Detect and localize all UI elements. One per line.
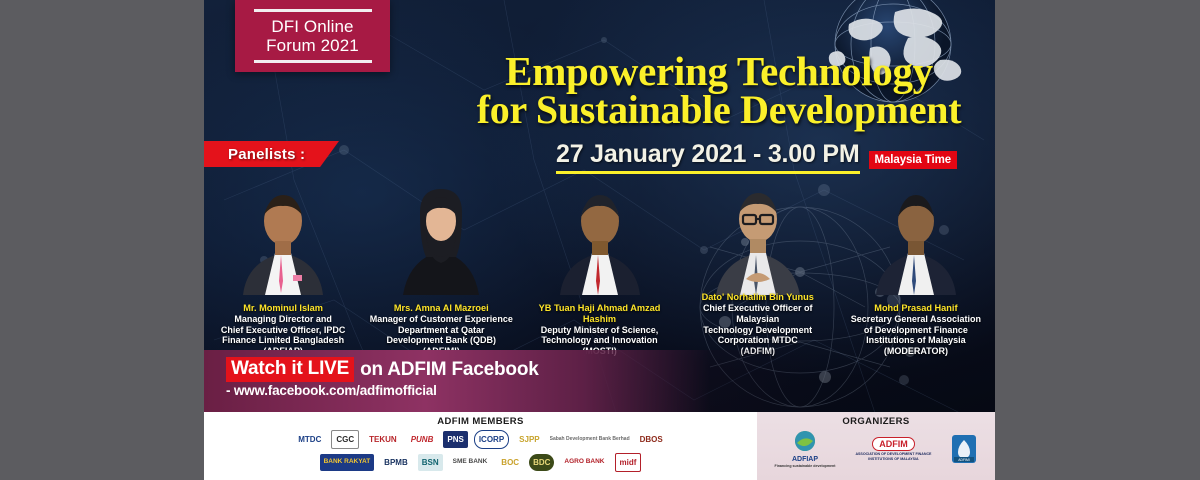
adfimi-logo-icon: ADFIMI (951, 434, 977, 464)
watch-live-band: Watch it LIVE on ADFIM Facebook - www.fa… (204, 350, 995, 412)
panelist-card: Mohd Prasad Hanif Secretary General Asso… (837, 172, 995, 357)
member-logo: Sabah Development Bank Berhad (550, 431, 630, 448)
member-logo: SME BANK (449, 454, 492, 471)
watch-live-highlight: Watch it LIVE (226, 357, 354, 382)
facebook-url[interactable]: - www.facebook.com/adfimofficial (226, 383, 437, 398)
organizer-adfimi: ADFIMI (951, 434, 977, 464)
organizer-logo-row: ADFIAP Financing sustainable development… (757, 427, 995, 471)
panelist-photo (868, 175, 964, 295)
panelist-photo (235, 175, 331, 295)
panelist-caption: Mohd Prasad Hanif Secretary General Asso… (839, 303, 993, 357)
panelist-title-line: of Development Finance (839, 325, 993, 336)
panelist-title-line: Chief Executive Officer of Malaysian (681, 303, 835, 325)
panelist-title-line: Manager of Customer Experience (364, 314, 518, 325)
panelist-card: Mrs. Amna Al Mazroei Manager of Customer… (362, 172, 520, 357)
panelist-photo (393, 175, 489, 295)
letterbox-right (995, 0, 1200, 480)
poster-stage: DFI Online Forum 2021 Empowering Technol… (0, 0, 1200, 480)
panelist-name: YB Tuan Haji Ahmad Amzad Hashim (522, 303, 676, 325)
panelist-title-line: Development Bank (QDB) (364, 335, 518, 346)
member-logo-row-1: MTDC CGC TEKUN PUNB PNS ICORP SJPP Sabah… (212, 428, 749, 451)
organizer-adfiap: ADFIAP Financing sustainable development (775, 430, 836, 468)
panelist-title-line: Chief Executive Officer, IPDC (206, 325, 360, 336)
panelist-title-line: Technology Development (681, 325, 835, 336)
panelist-title-line: Secretary General Association (839, 314, 993, 325)
panelist-title-line: Technology and Innovation (522, 335, 676, 346)
panelist-card: Dato' Norhalim Bin Yunus Chief Executive… (679, 172, 837, 357)
badge-text: DFI Online Forum 2021 (266, 12, 359, 60)
event-date-text: 27 January 2021 - 3.00 PM (556, 140, 860, 174)
panelist-title-line: Finance Limited Bangladesh (206, 335, 360, 346)
poster-headline: Empowering Technology for Sustainable De… (454, 52, 984, 130)
panelists-label: Panelists : (204, 146, 305, 163)
organizer-adfim: ADFIM ASSOCIATION OF DEVELOPMENT FINANCE… (845, 437, 941, 460)
event-datetime: 27 January 2021 - 3.00 PM Malaysia Time (556, 140, 984, 174)
panelist-photo (552, 175, 648, 295)
poster-footer: ADFIM MEMBERS MTDC CGC TEKUN PUNB PNS IC… (204, 412, 995, 480)
member-logo: TEKUN (365, 431, 401, 448)
organizer-name: ADFIAP (792, 456, 818, 464)
panelist-caption: YB Tuan Haji Ahmad Amzad Hashim Deputy M… (522, 303, 676, 357)
forum-badge: DFI Online Forum 2021 (235, 0, 390, 72)
panelist-title-line: Corporation MTDC (681, 335, 835, 346)
member-logo: BPMB (380, 454, 412, 471)
member-logo: PUNB (407, 431, 438, 448)
svg-text:ADFIMI: ADFIMI (959, 458, 971, 462)
member-logo: BSN (418, 454, 443, 471)
badge-line-1: DFI Online (266, 17, 359, 36)
adfim-members-section: ADFIM MEMBERS MTDC CGC TEKUN PUNB PNS IC… (204, 412, 757, 480)
panelist-name: Mr. Mominul Islam (206, 303, 360, 314)
panelist-photo (710, 175, 806, 295)
member-logo: MTDC (294, 431, 325, 448)
panelist-caption: Mr. Mominul Islam Managing Director and … (206, 303, 360, 357)
panelist-caption: Mrs. Amna Al Mazroei Manager of Customer… (364, 303, 518, 357)
panelist-title-line: Department at Qatar (364, 325, 518, 336)
panelist-card: YB Tuan Haji Ahmad Amzad Hashim Deputy M… (520, 172, 678, 357)
member-logo: ICORP (474, 430, 509, 449)
letterbox-left (0, 0, 204, 480)
member-logo: BOC (497, 454, 523, 471)
panelist-card: Mr. Mominul Islam Managing Director and … (204, 172, 362, 357)
member-logo-row-2: BANK RAKYAT BPMB BSN SME BANK BOC BDC AG… (212, 451, 749, 474)
organizer-name: ADFIM (872, 437, 915, 451)
panelists-ribbon: Panelists : (204, 141, 339, 167)
panelist-title-line: Deputy Minister of Science, (522, 325, 676, 336)
organizer-caption: Financing sustainable development (775, 464, 836, 468)
panelist-title-line: Institutions of Malaysia (839, 335, 993, 346)
adfiap-globe-icon (790, 430, 820, 456)
panelist-name: Dato' Norhalim Bin Yunus (681, 292, 835, 303)
member-logo: DBOS (636, 431, 667, 448)
badge-line-2: Forum 2021 (266, 36, 359, 55)
member-logo: CGC (331, 430, 359, 449)
member-logo: SJPP (515, 431, 543, 448)
panelist-caption: Dato' Norhalim Bin Yunus Chief Executive… (681, 292, 835, 357)
panelist-name: Mrs. Amna Al Mazroei (364, 303, 518, 314)
panelist-name: Mohd Prasad Hanif (839, 303, 993, 314)
headline-line-1: Empowering Technology (454, 52, 984, 91)
member-logo: midf (615, 453, 642, 472)
headline-line-2: for Sustainable Development (454, 91, 984, 129)
organizers-title: ORGANIZERS (757, 412, 995, 427)
timezone-badge: Malaysia Time (869, 151, 957, 169)
member-logo: BANK RAKYAT (320, 454, 375, 471)
watch-live-row: Watch it LIVE on ADFIM Facebook (226, 357, 539, 382)
panelists-strip: Mr. Mominul Islam Managing Director and … (204, 172, 995, 357)
member-logo: PNS (443, 431, 467, 448)
member-logo: AGRO BANK (560, 454, 608, 471)
organizer-caption: ASSOCIATION OF DEVELOPMENT FINANCE INSTI… (845, 452, 941, 460)
panelist-title-line: Managing Director and (206, 314, 360, 325)
organizers-section: ORGANIZERS ADFIAP Financing sustainable … (757, 412, 995, 480)
member-logo-rows: MTDC CGC TEKUN PUNB PNS ICORP SJPP Sabah… (204, 427, 757, 474)
member-logo: BDC (529, 454, 554, 471)
badge-rule-bottom (254, 60, 372, 63)
event-poster: DFI Online Forum 2021 Empowering Technol… (204, 0, 995, 480)
watch-live-rest: on ADFIM Facebook (354, 359, 539, 381)
members-title: ADFIM MEMBERS (204, 412, 757, 427)
